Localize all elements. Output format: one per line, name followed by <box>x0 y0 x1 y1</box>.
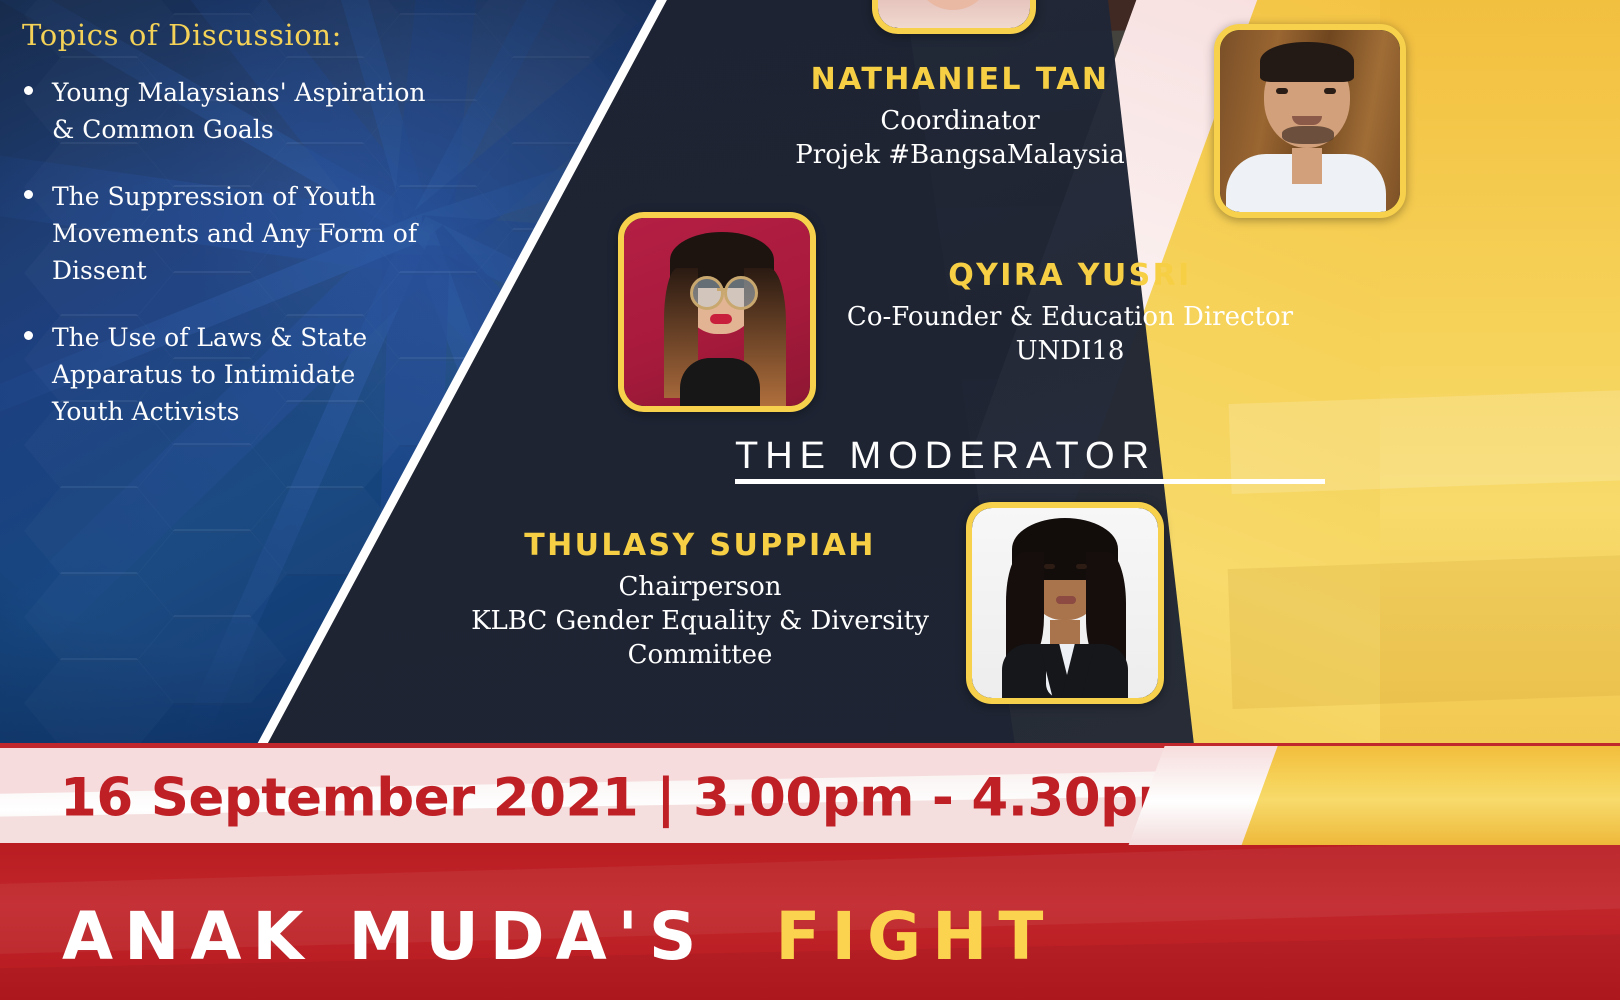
speaker-qyira-yusri: QYIRA YUSRI Co-Founder & Education Direc… <box>830 258 1310 368</box>
event-title: ANAK MUDA'S FIGHT <box>62 898 1054 975</box>
speaker-photo-partial <box>872 0 1036 34</box>
topic-text: The Suppression of Youth Movements and A… <box>52 182 417 285</box>
moderator-heading: THE MODERATOR <box>735 435 1156 478</box>
gold-wave-light <box>1229 386 1620 494</box>
event-title-primary: ANAK MUDA'S <box>62 898 707 975</box>
event-date-time: 16 September 2021 | 3.00pm - 4.30pm <box>60 768 1192 829</box>
topic-list-item: The Use of Laws & State Apparatus to Int… <box>14 319 434 430</box>
moderator-heading-underline <box>735 479 1325 484</box>
speaker-role: Co-Founder & Education Director <box>830 300 1310 334</box>
nathaniel-tan-photo <box>1214 24 1406 218</box>
topic-text: Young Malaysians' Aspiration & Common Go… <box>52 78 425 144</box>
event-poster: Topics of Discussion: Young Malaysians' … <box>0 0 1620 1000</box>
speaker-name: QYIRA YUSRI <box>830 258 1310 293</box>
bullet-icon <box>24 86 33 95</box>
topics-list: Young Malaysians' Aspiration & Common Go… <box>14 74 434 430</box>
event-title-accent: FIGHT <box>775 898 1054 975</box>
moderator-organisation: KLBC Gender Equality & Diversity Committ… <box>460 604 940 672</box>
speaker-nathaniel-tan: NATHANIEL TAN Coordinator Projek #Bangsa… <box>720 62 1200 172</box>
speaker-name: NATHANIEL TAN <box>720 62 1200 97</box>
gold-wave-dark <box>1228 551 1620 709</box>
bullet-icon <box>24 331 33 340</box>
topics-of-discussion-section: Topics of Discussion: Young Malaysians' … <box>14 18 434 460</box>
topic-list-item: The Suppression of Youth Movements and A… <box>14 178 434 289</box>
thulasy-suppiah-photo <box>966 502 1164 704</box>
speaker-organisation: UNDI18 <box>830 334 1310 368</box>
moderator-name: THULASY SUPPIAH <box>460 528 940 563</box>
event-title-bar: ANAK MUDA'S FIGHT <box>0 843 1620 1000</box>
gold-band-over-banner <box>1242 745 1620 845</box>
bullet-icon <box>24 190 33 199</box>
topic-list-item: Young Malaysians' Aspiration & Common Go… <box>14 74 434 148</box>
topics-heading: Topics of Discussion: <box>22 18 434 52</box>
qyira-yusri-photo <box>618 212 816 412</box>
topic-text: The Use of Laws & State Apparatus to Int… <box>52 323 367 426</box>
moderator-thulasy-suppiah: THULASY SUPPIAH Chairperson KLBC Gender … <box>460 528 940 672</box>
speaker-role: Coordinator <box>720 104 1200 138</box>
moderator-role: Chairperson <box>460 570 940 604</box>
banner-top-rule <box>0 743 1620 746</box>
speaker-organisation: Projek #BangsaMalaysia <box>720 138 1200 172</box>
